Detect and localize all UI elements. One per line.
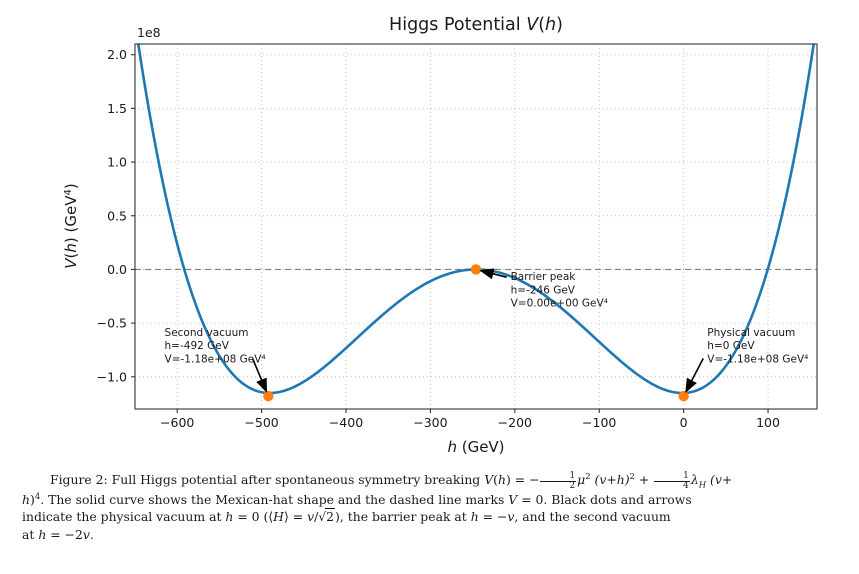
x-tick-label: 100: [756, 415, 780, 430]
caption-line-3: indicate the physical vacuum at h = 0 (⟨…: [22, 508, 837, 525]
marker-physical-vacuum: [678, 391, 688, 401]
caption-text-a: Full Higgs potential after spontaneous s…: [108, 472, 484, 487]
y-axis-offset-label: 1e8: [137, 25, 161, 40]
x-tick-label: −200: [498, 415, 532, 430]
x-tick-label: −100: [582, 415, 616, 430]
y-tick-label: −1.0: [97, 369, 127, 384]
caption-line-4: at h = −2v.: [22, 526, 837, 543]
caption-text-b: . The solid curve shows the Mexican-hat …: [40, 492, 508, 507]
higgs-potential-figure: Barrier peakh=-246 GeVV=0.00e+00 GeV⁴Sec…: [0, 0, 859, 466]
y-tick-label: 1.5: [107, 101, 127, 116]
marker-second-vacuum: [263, 391, 273, 401]
caption-text-d: indicate the physical vacuum at: [22, 509, 225, 524]
y-tick-label: 1.0: [107, 155, 127, 170]
figure-caption: Figure 2: Full Higgs potential after spo…: [22, 471, 837, 543]
caption-line-2: h)4. The solid curve shows the Mexican-h…: [22, 491, 837, 508]
caption-formula: V(h) = −12μ2 (v+h)2 + 14λH (v+: [484, 472, 732, 487]
x-tick-label: 0: [680, 415, 688, 430]
caption-text-g: at: [22, 527, 38, 542]
chart-title: Higgs Potential V(h): [389, 15, 563, 35]
y-tick-label: 0.0: [107, 262, 127, 277]
caption-label: Figure 2:: [50, 472, 108, 487]
caption-text-f: , and the second vacuum: [514, 509, 670, 524]
caption-line-1: Figure 2: Full Higgs potential after spo…: [22, 471, 837, 491]
caption-text-c: . Black dots and arrows: [543, 492, 691, 507]
x-axis-label: h (GeV): [447, 438, 504, 456]
x-tick-label: −500: [244, 415, 278, 430]
caption-text-e: ), the barrier peak at: [335, 509, 471, 524]
y-axis-label: V(h) (GeV4): [62, 183, 80, 268]
x-tick-label: −300: [413, 415, 447, 430]
marker-barrier-peak: [471, 264, 481, 274]
caption-h-symbol: h: [22, 492, 30, 507]
x-tick-label: −600: [160, 415, 194, 430]
y-tick-label: 2.0: [107, 47, 127, 62]
y-tick-label: −0.5: [97, 316, 127, 331]
x-tick-label: −400: [329, 415, 363, 430]
y-tick-label: 0.5: [107, 208, 127, 223]
